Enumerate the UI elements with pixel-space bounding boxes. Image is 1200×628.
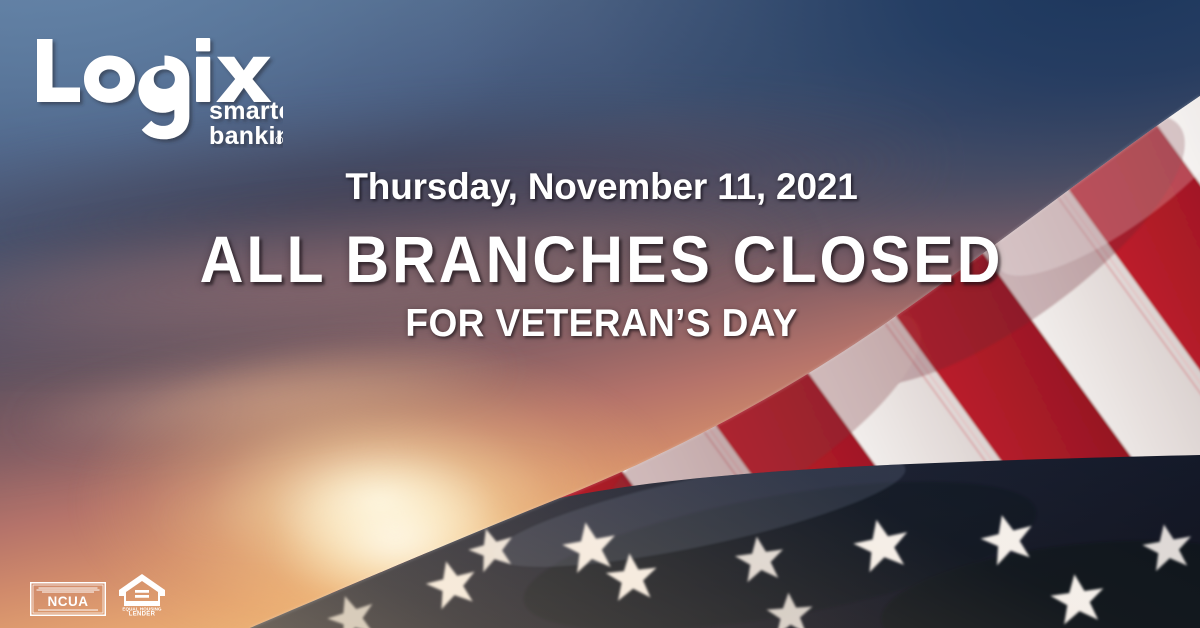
veterans-day-banner: smarter banking ® Thursday, November 11,… [0, 0, 1200, 628]
equal-housing-lender-badge: EQUAL HOUSING LENDER [117, 571, 167, 616]
message-block: Thursday, November 11, 2021 ALL BRANCHES… [0, 168, 1200, 343]
closure-date: Thursday, November 11, 2021 [0, 168, 1200, 205]
ehl-line2: LENDER [129, 612, 156, 617]
ncua-wordmark: NCUA [48, 594, 89, 609]
logo-tagline-line1: smarter [209, 97, 283, 125]
compliance-badges: NCUA EQUAL HOUSING LENDER [30, 571, 167, 616]
logo-tagline-line2: banking [209, 122, 283, 148]
sun-highlight [240, 452, 552, 628]
page-subtitle: FOR VETERAN’S DAY [30, 304, 1173, 343]
registered-mark: ® [275, 135, 283, 147]
ehl-line1: EQUAL HOUSING [122, 607, 162, 612]
ncua-badge: NCUA [30, 582, 106, 616]
logix-logo[interactable]: smarter banking ® [33, 33, 283, 148]
page-title: ALL BRANCHES CLOSED [48, 226, 1155, 292]
